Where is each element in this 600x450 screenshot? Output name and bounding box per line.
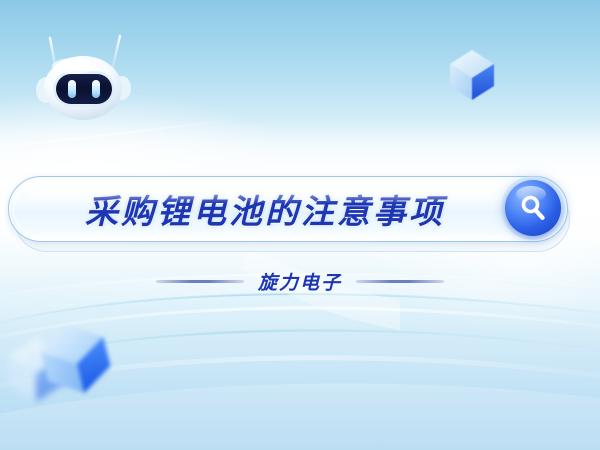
robot-eye-right bbox=[92, 80, 100, 98]
subtitle-row: 旋力电子 bbox=[0, 266, 600, 296]
robot-eye-left bbox=[68, 80, 76, 98]
decorative-cube-bottom-left bbox=[36, 316, 116, 402]
search-button[interactable] bbox=[505, 180, 561, 236]
page-title: 采购锂电池的注意事项 bbox=[9, 177, 567, 241]
subtitle: 旋力电子 bbox=[258, 268, 342, 295]
subtitle-rule-left bbox=[156, 280, 244, 283]
subtitle-rule-right bbox=[356, 280, 444, 283]
search-icon bbox=[517, 192, 549, 224]
robot-antenna-right bbox=[112, 36, 120, 70]
decorative-cube-top-right bbox=[444, 44, 500, 106]
title-slide: 采购锂电池的注意事项 旋力电子 bbox=[0, 0, 600, 450]
title-bar: 采购锂电池的注意事项 bbox=[8, 176, 568, 242]
robot-mascot bbox=[26, 30, 132, 126]
